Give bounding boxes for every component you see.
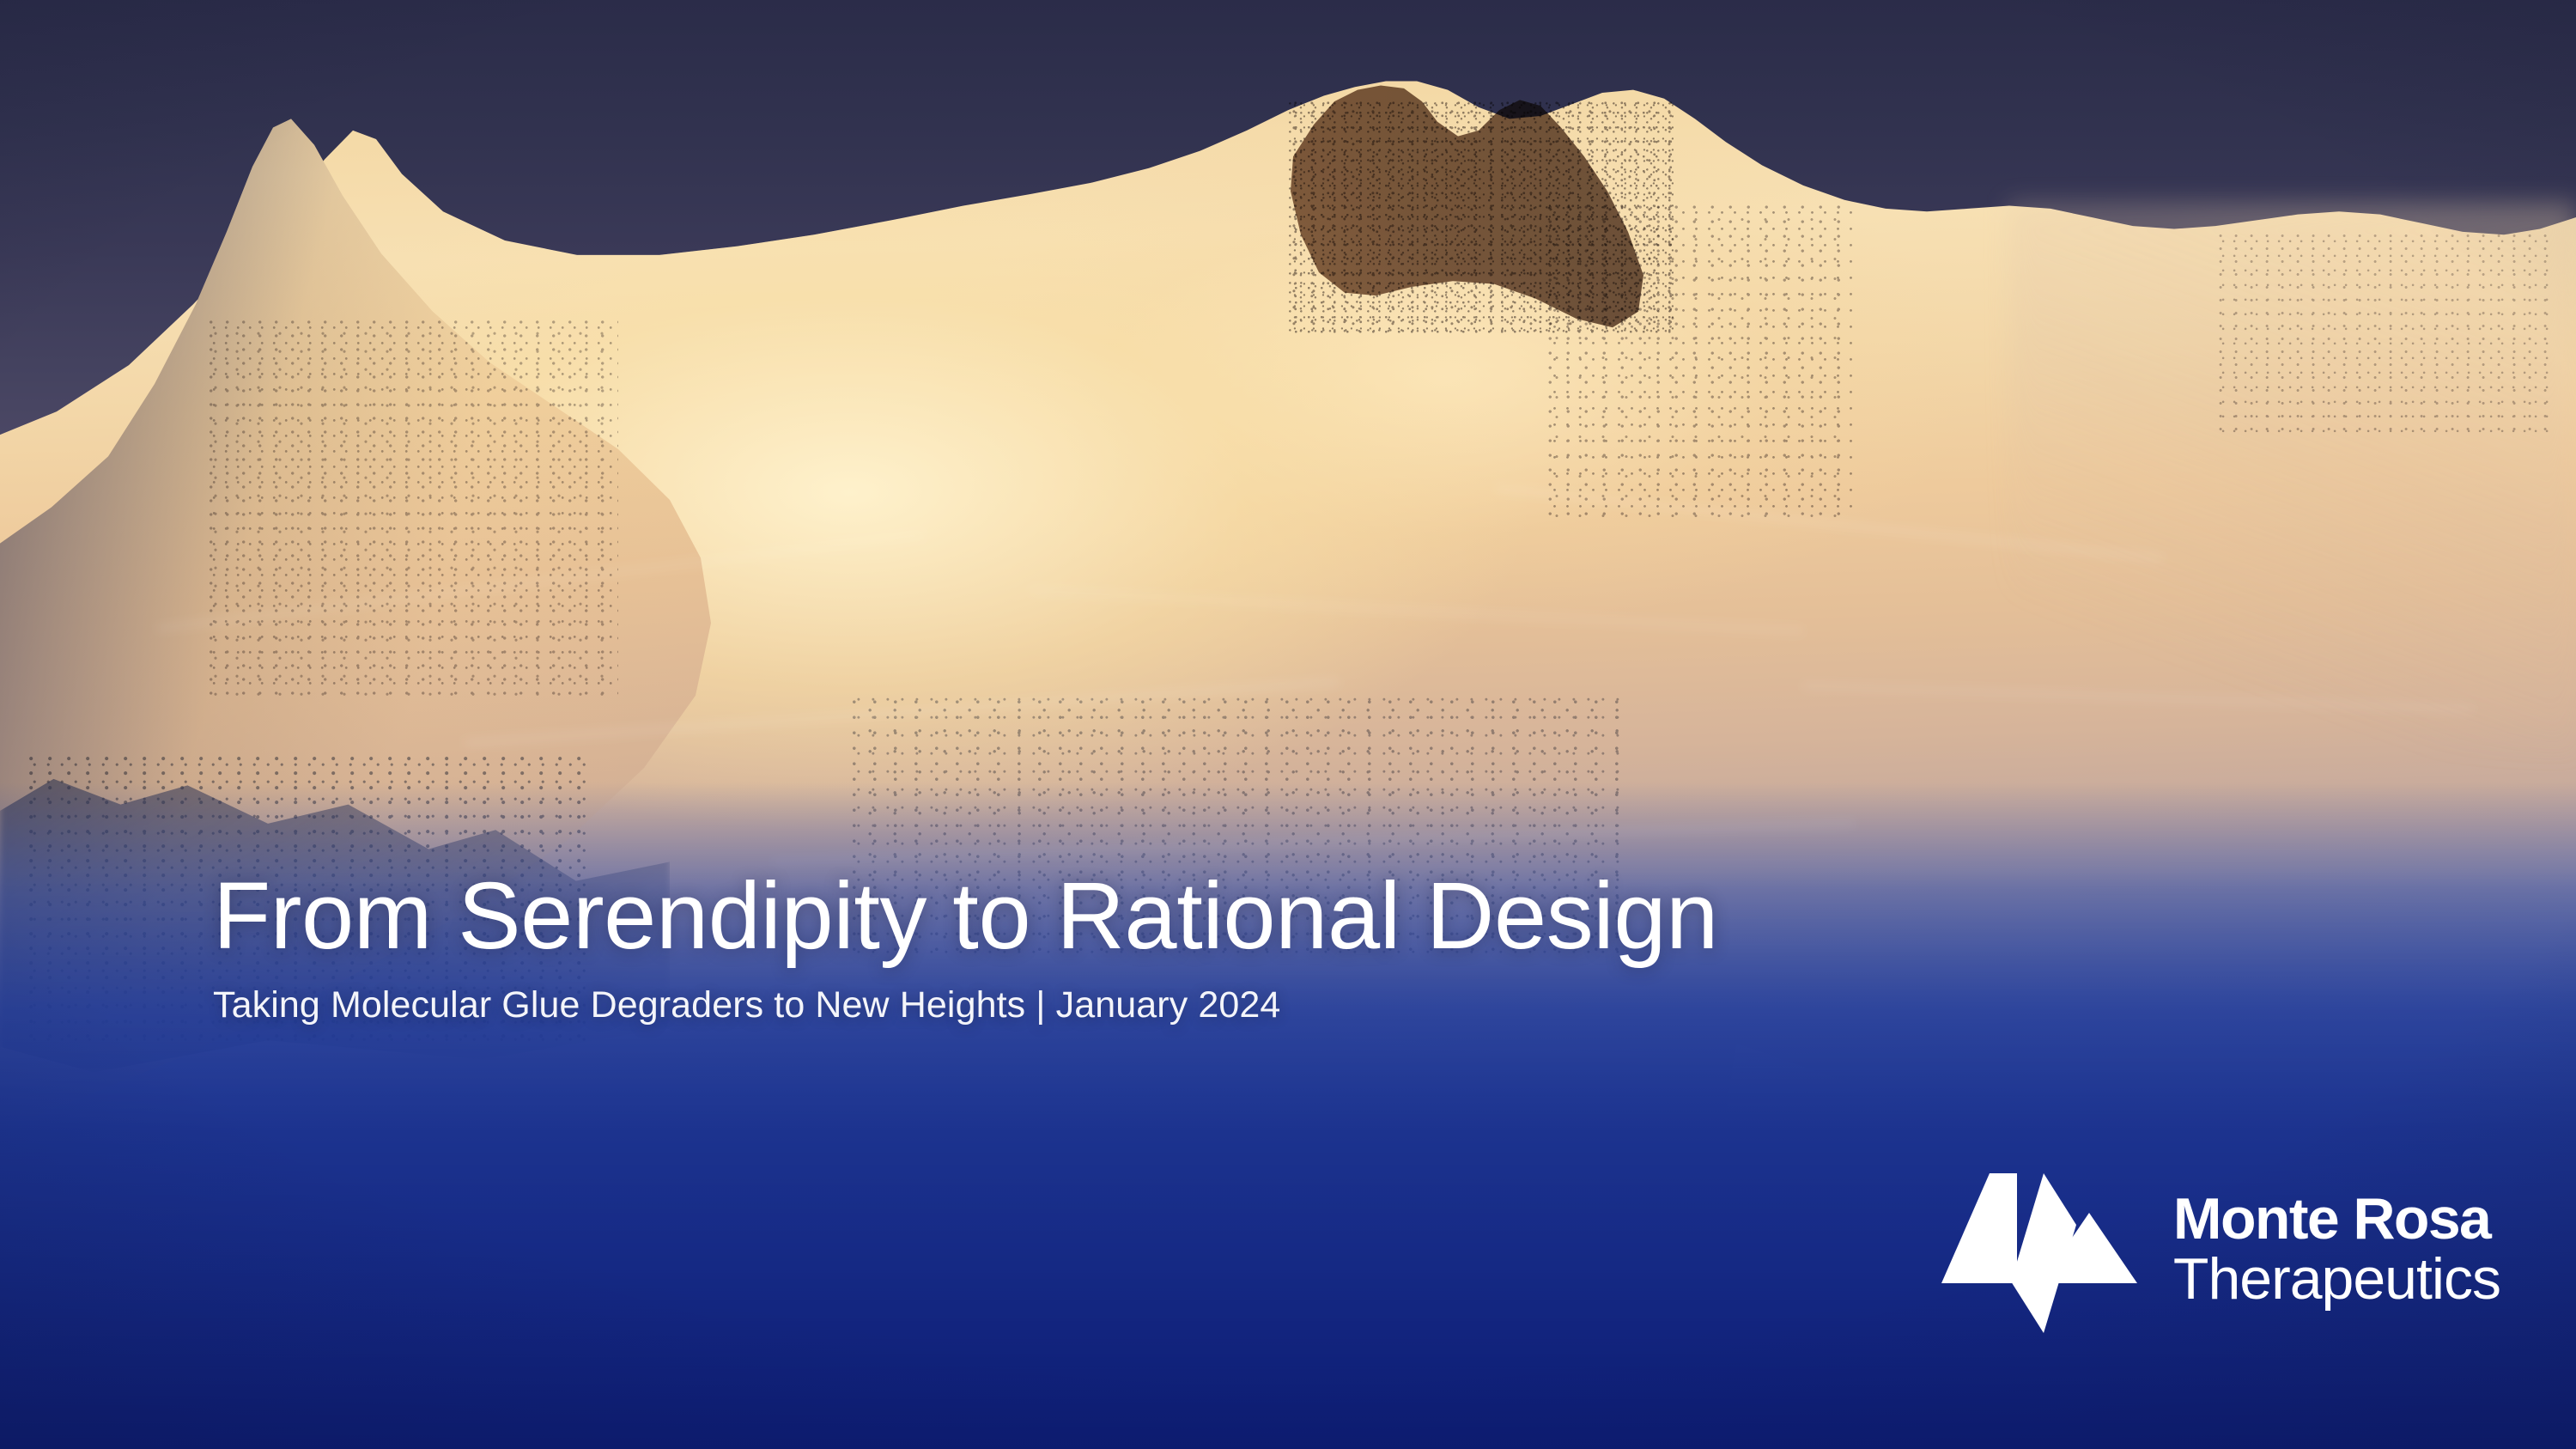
title-text-block: From Serendipity to Rational Design Taki…	[213, 869, 1930, 1026]
logo-wordmark: Monte Rosa Therapeutics	[2173, 1191, 2500, 1307]
monte-rosa-mountain-mark-icon	[1941, 1161, 2141, 1337]
logo-company-name: Monte Rosa	[2173, 1191, 2500, 1247]
page-subtitle: Taking Molecular Glue Degraders to New H…	[213, 984, 1930, 1026]
page-title: From Serendipity to Rational Design	[213, 869, 1930, 964]
rock-speckle-texture	[206, 319, 618, 696]
title-slide: From Serendipity to Rational Design Taki…	[0, 0, 2576, 1449]
right-shoulder-haze	[2009, 203, 2576, 753]
rock-speckle-texture	[1546, 203, 1855, 521]
logo-company-descriptor: Therapeutics	[2173, 1251, 2500, 1307]
company-logo: Monte Rosa Therapeutics	[1941, 1161, 2500, 1337]
